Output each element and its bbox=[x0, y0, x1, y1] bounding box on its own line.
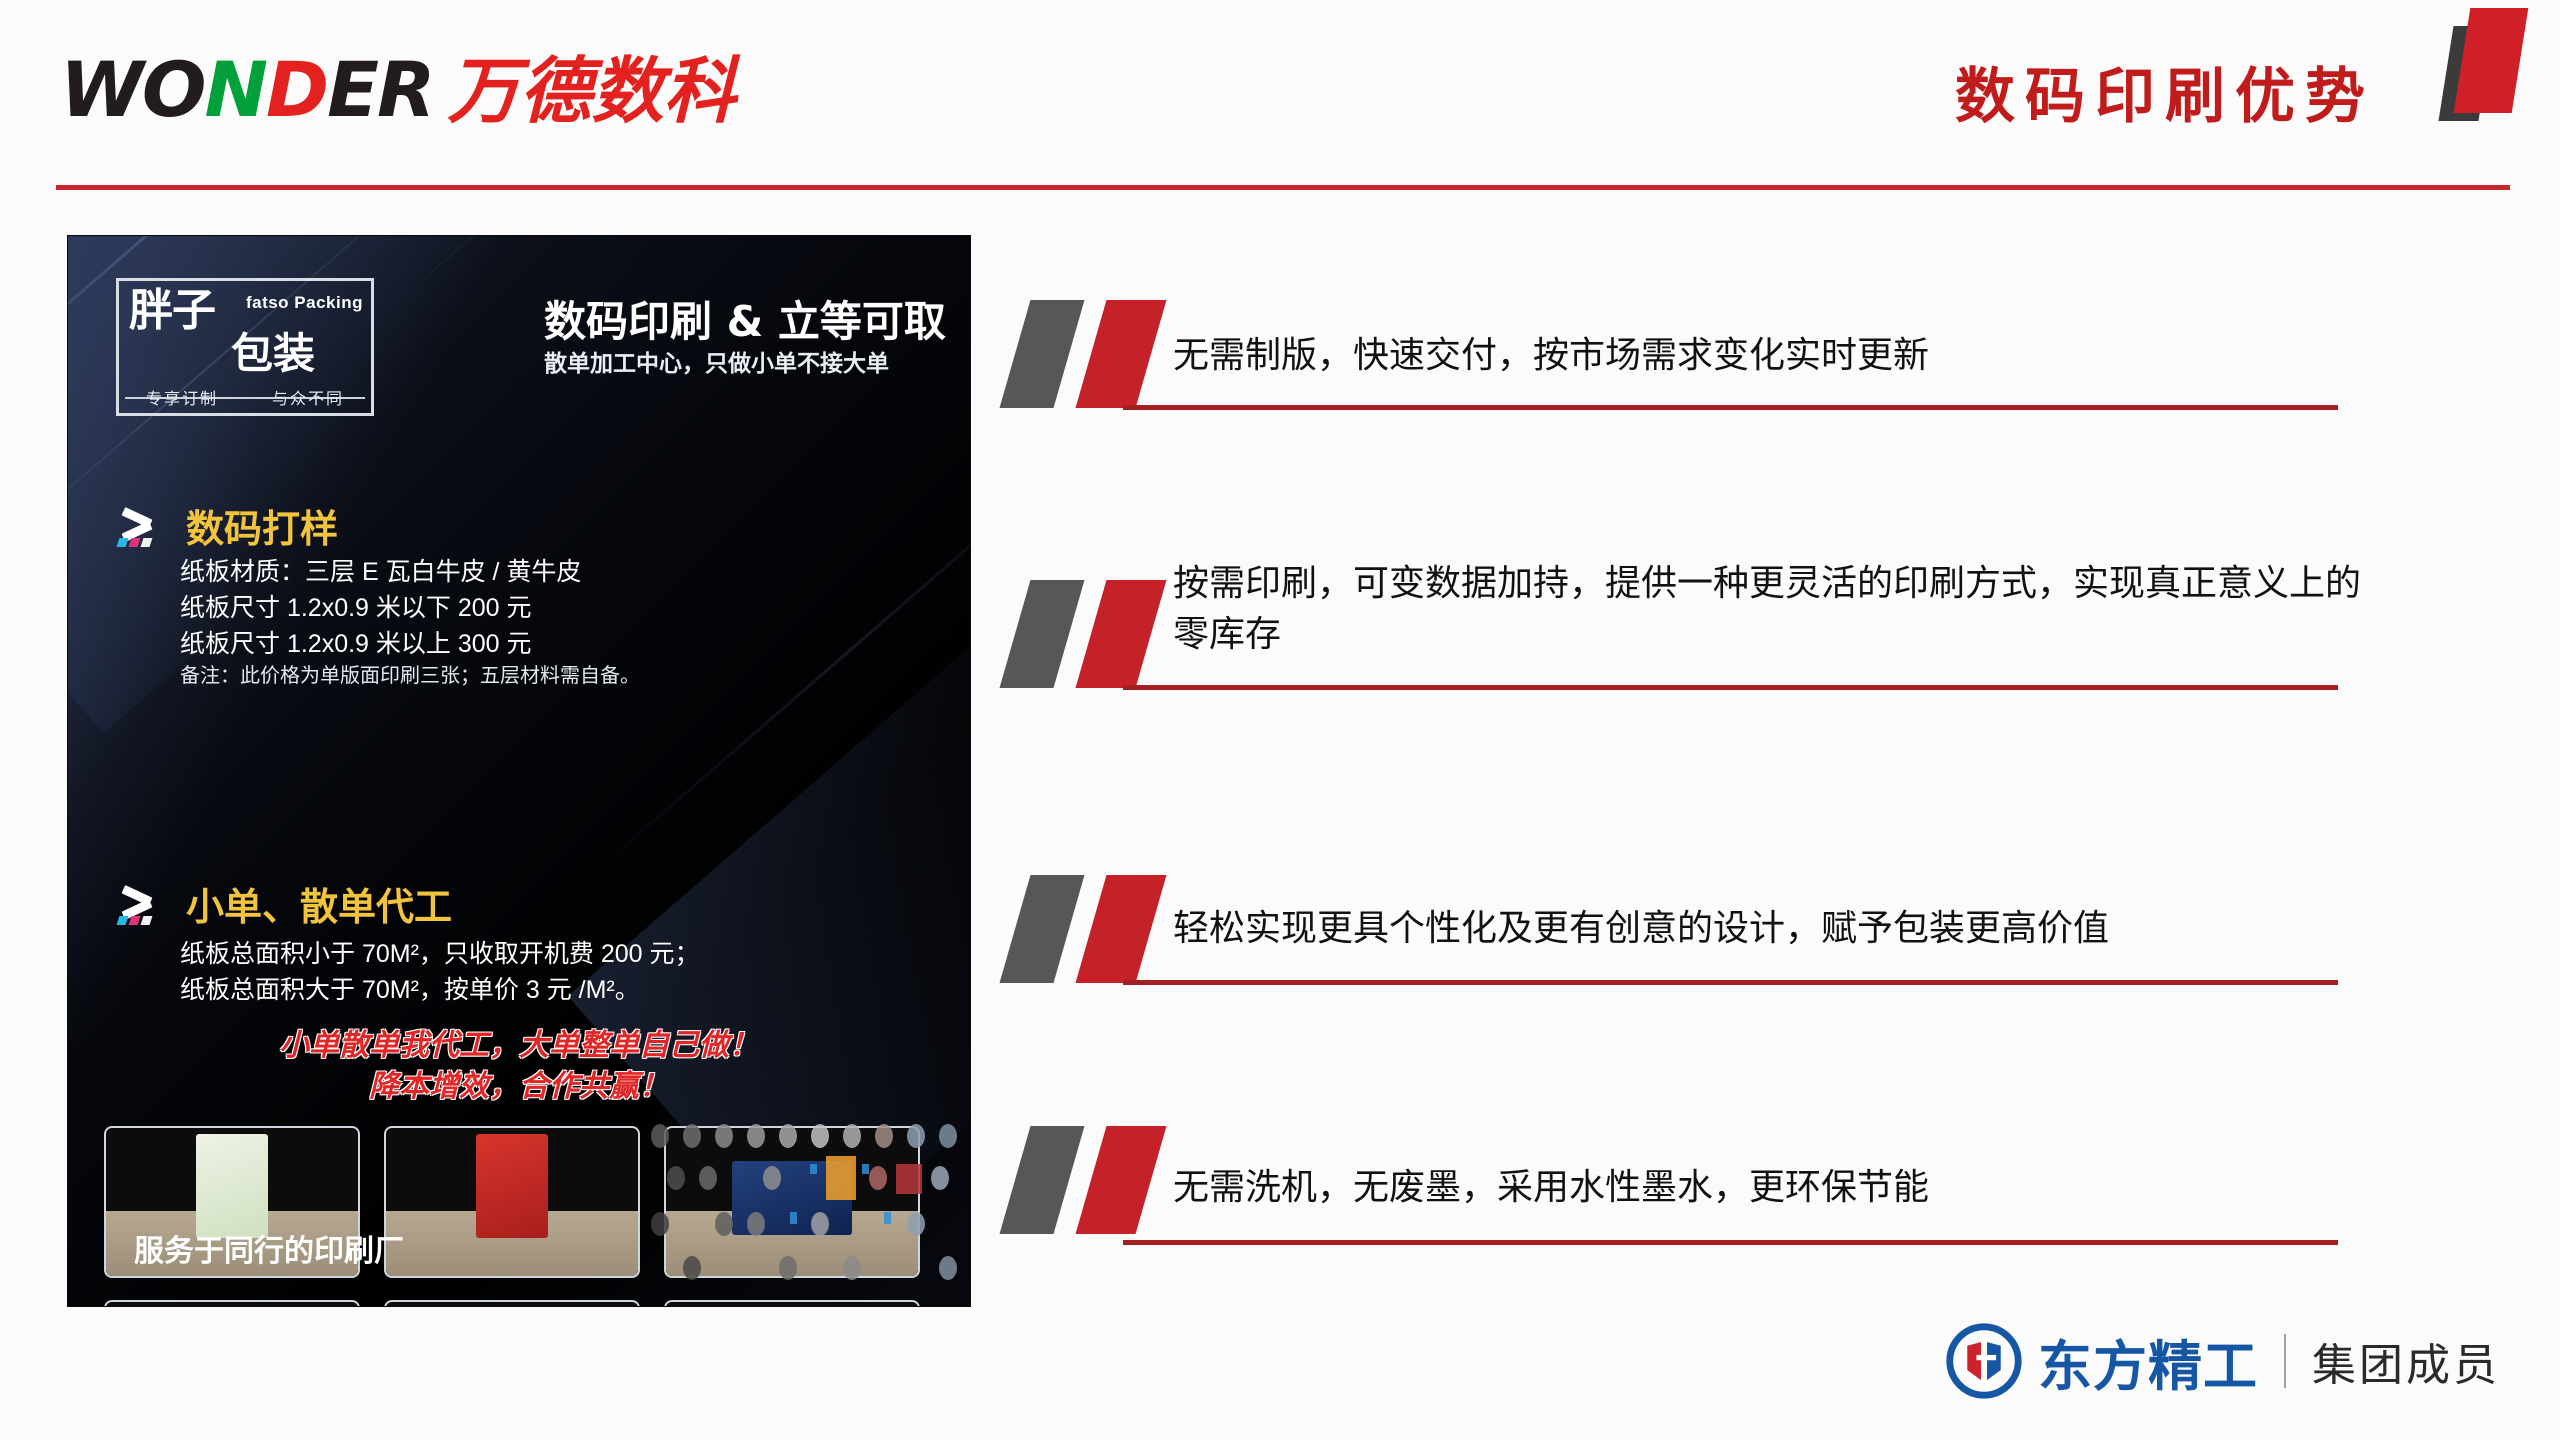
header-divider bbox=[56, 185, 2510, 190]
advantage-underline bbox=[1123, 980, 2338, 985]
advantage-underline bbox=[1123, 685, 2338, 690]
product-photo bbox=[384, 1126, 640, 1278]
page-title: 数码印刷优势 bbox=[1955, 48, 2375, 135]
footer-company-name: 东方精工 bbox=[2038, 1322, 2258, 1401]
dongfang-jinggong-icon bbox=[1946, 1323, 2022, 1399]
fatso-tagline-left: 专享订制 bbox=[146, 385, 218, 409]
proof-line-3: 纸板尺寸 1.2x0.9 米以上 300 元 bbox=[180, 626, 640, 662]
poster-headline: 数码印刷 & 立等可取 bbox=[544, 288, 946, 349]
proof-note: 备注：此价格为单版面印刷三张；五层材料需自备。 bbox=[180, 662, 640, 691]
proof-line-2: 纸板尺寸 1.2x0.9 米以下 200 元 bbox=[180, 590, 640, 626]
poster-section-2-header: 小单、散单代工 bbox=[116, 876, 452, 931]
oem-line-2: 纸板总面积大于 70M²，按单价 3 元 /M²。 bbox=[180, 972, 700, 1008]
brand-latin-wo: WO bbox=[60, 52, 204, 128]
fatso-tagline-right: 与众不同 bbox=[272, 385, 344, 409]
poster-section-2-body: 纸板总面积小于 70M²，只收取开机费 200 元； 纸板总面积大于 70M²，… bbox=[180, 936, 700, 1008]
group-member-logo: 东方精工 集团成员 bbox=[1946, 1318, 2500, 1404]
brand-chinese-name: 万德数科 bbox=[448, 55, 736, 127]
fatso-logo-english: fatso Packing bbox=[246, 293, 363, 313]
dot-pattern-decoration bbox=[640, 1116, 970, 1306]
fatso-packing-logo: 胖子 fatso Packing 包装 专享订制 与众不同 bbox=[116, 278, 374, 416]
footer-separator bbox=[2284, 1334, 2286, 1388]
footer-member-label: 集团成员 bbox=[2312, 1329, 2500, 1393]
fatso-logo-secondary-text: 包装 bbox=[231, 333, 315, 375]
oem-line-1: 纸板总面积小于 70M²，只收取开机费 200 元； bbox=[180, 936, 700, 972]
bullet-marker-icon bbox=[1005, 580, 1185, 688]
wonder-brand-logo: WONDER 万德数科 bbox=[60, 52, 736, 128]
chevron-arrow-icon bbox=[116, 883, 174, 925]
fatso-logo-main-text: 胖子 bbox=[129, 289, 215, 333]
slide-header: WONDER 万德数科 数码印刷优势 bbox=[0, 0, 2560, 200]
advantage-underline bbox=[1123, 405, 2338, 410]
poster-section-2-title: 小单、散单代工 bbox=[186, 876, 452, 931]
brand-latin-d: D bbox=[266, 52, 327, 128]
poster-section-1-body: 纸板材质：三层 E 瓦白牛皮 / 黄牛皮 纸板尺寸 1.2x0.9 米以下 20… bbox=[180, 554, 640, 691]
promo-poster-image: 胖子 fatso Packing 包装 专享订制 与众不同 数码印刷 & 立等可… bbox=[68, 236, 970, 1306]
advantage-text: 按需印刷，可变数据加持，提供一种更灵活的印刷方式，实现真正意义上的零库存 bbox=[1173, 558, 2388, 660]
brand-latin-n: N bbox=[204, 52, 266, 128]
corner-red-shape bbox=[2454, 8, 2529, 113]
poster-slogan: 小单散单我代工，大单整单自己做！ 降本增效，合作共赢！ bbox=[68, 1026, 970, 1108]
slogan-line-2: 降本增效，合作共赢！ bbox=[68, 1067, 970, 1108]
advantage-text: 轻松实现更具个性化及更有创意的设计，赋予包装更高价值 bbox=[1173, 903, 2388, 954]
poster-section-1-title: 数码打样 bbox=[186, 498, 338, 553]
advantage-text: 无需制版，快速交付，按市场需求变化实时更新 bbox=[1173, 330, 2388, 381]
slogan-line-1: 小单散单我代工，大单整单自己做！ bbox=[68, 1026, 970, 1067]
proof-line-1: 纸板材质：三层 E 瓦白牛皮 / 黄牛皮 bbox=[180, 554, 640, 590]
brand-latin-er: ER bbox=[327, 52, 433, 128]
corner-decoration-icon bbox=[2440, 0, 2560, 130]
product-photo bbox=[384, 1300, 640, 1306]
product-photo bbox=[104, 1300, 360, 1306]
fatso-logo-taglines: 专享订制 与众不同 bbox=[119, 385, 371, 409]
advantage-text: 无需洗机，无废墨，采用水性墨水，更环保节能 bbox=[1173, 1162, 2388, 1213]
advantage-underline bbox=[1123, 1240, 2338, 1245]
poster-section-1-header: 数码打样 bbox=[116, 498, 338, 553]
poster-footer-text: 服务于同行的印刷厂 bbox=[134, 1226, 404, 1270]
bullet-marker-icon bbox=[1005, 875, 1185, 983]
chevron-arrow-icon bbox=[116, 505, 174, 547]
bullet-marker-icon bbox=[1005, 300, 1185, 408]
poster-subheadline: 散单加工中心，只做小单不接大单 bbox=[544, 344, 889, 378]
bullet-marker-icon bbox=[1005, 1126, 1185, 1234]
